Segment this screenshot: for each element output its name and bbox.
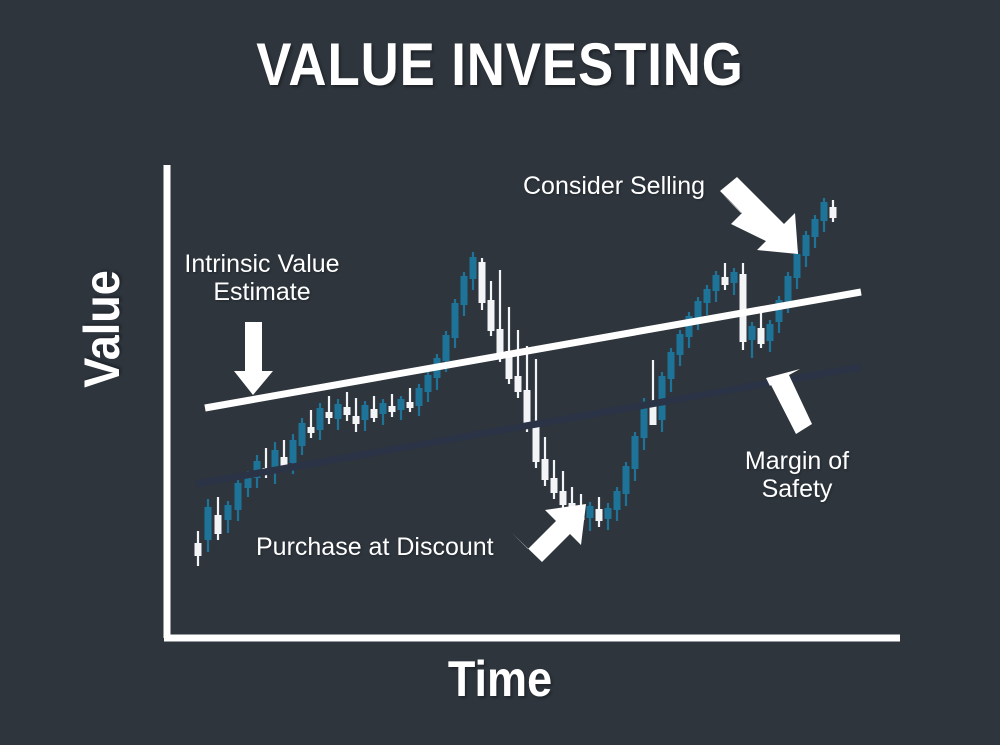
candle-body [380, 403, 387, 414]
candle-body [317, 408, 324, 430]
candle-body [587, 506, 594, 518]
candle-body [344, 407, 351, 415]
candle-body [812, 219, 819, 237]
candle-body [740, 274, 747, 342]
candle-body [353, 416, 360, 424]
candle-body [215, 515, 222, 534]
candle-body [749, 326, 756, 340]
candle-body [443, 335, 450, 361]
annotation-consider-selling: Consider Selling [523, 172, 723, 200]
candle-body [614, 491, 621, 510]
candle-body [389, 406, 396, 412]
diagonal-down-right-arrow-body [720, 177, 798, 254]
candle-wick [310, 410, 312, 438]
candle-body [551, 478, 558, 493]
candle-body [533, 424, 540, 462]
candle-body [758, 328, 765, 344]
candle-body [452, 303, 459, 338]
candle-body [524, 390, 531, 427]
candle-body [398, 399, 405, 410]
candle-body [668, 352, 675, 379]
chart-svg [0, 0, 1000, 745]
candle-body [704, 289, 711, 303]
candle-body [290, 440, 297, 463]
annotation-purchase-at-discount: Purchase at Discount [256, 533, 516, 561]
annotation-intrinsic-value: Intrinsic Value Estimate [172, 250, 352, 306]
candle-body [677, 334, 684, 355]
candle-wick [409, 388, 411, 412]
candle-body [605, 508, 612, 519]
trendline-intrinsic-value-estimate [205, 292, 861, 408]
candle-body [205, 507, 212, 540]
candle-body [488, 300, 495, 331]
candle-body [362, 405, 369, 420]
candle-body [767, 324, 774, 341]
candle-body [560, 491, 567, 505]
candle-body [299, 423, 306, 446]
candle-body [195, 543, 202, 556]
candle-body [650, 405, 657, 425]
candle-body [461, 276, 468, 305]
candle-body [785, 276, 792, 302]
candle-body [497, 329, 504, 355]
candle-body [416, 388, 423, 406]
candle-wick [346, 392, 348, 421]
candle-body [713, 275, 720, 291]
infographic-canvas: VALUE INVESTING Value Time Intrinsic Val… [0, 0, 1000, 745]
candle-body [371, 409, 378, 418]
candle-wick [355, 398, 357, 432]
candle-body [425, 375, 432, 392]
candle-body [326, 412, 333, 418]
candle-body [235, 483, 242, 510]
candle-body [542, 459, 549, 480]
candle-body [470, 257, 477, 279]
annotation-margin-of-safety: Margin of Safety [727, 447, 867, 503]
down-arrow-icon [234, 322, 273, 395]
candle-wick [724, 263, 726, 290]
candle-body [335, 404, 342, 419]
diagonal-up-right-arrow-icon [512, 504, 586, 562]
candle-body [479, 262, 486, 303]
candle-body [731, 272, 738, 283]
candle-body [830, 207, 837, 218]
candle-wick [391, 394, 393, 417]
candle-body [794, 254, 801, 278]
candle-body [308, 427, 315, 433]
candle-body [695, 301, 702, 318]
candle-body [803, 235, 810, 256]
candle-body [659, 376, 666, 420]
candle-body [407, 402, 414, 408]
candle-body [515, 376, 522, 392]
annotation-arrows [234, 177, 812, 562]
candle-body [632, 436, 639, 469]
candle-body [225, 505, 232, 520]
candle-body [722, 277, 729, 285]
candle-body [623, 466, 630, 494]
candle-body [821, 202, 828, 221]
candle-body [596, 509, 603, 521]
candle-wick [328, 396, 330, 424]
